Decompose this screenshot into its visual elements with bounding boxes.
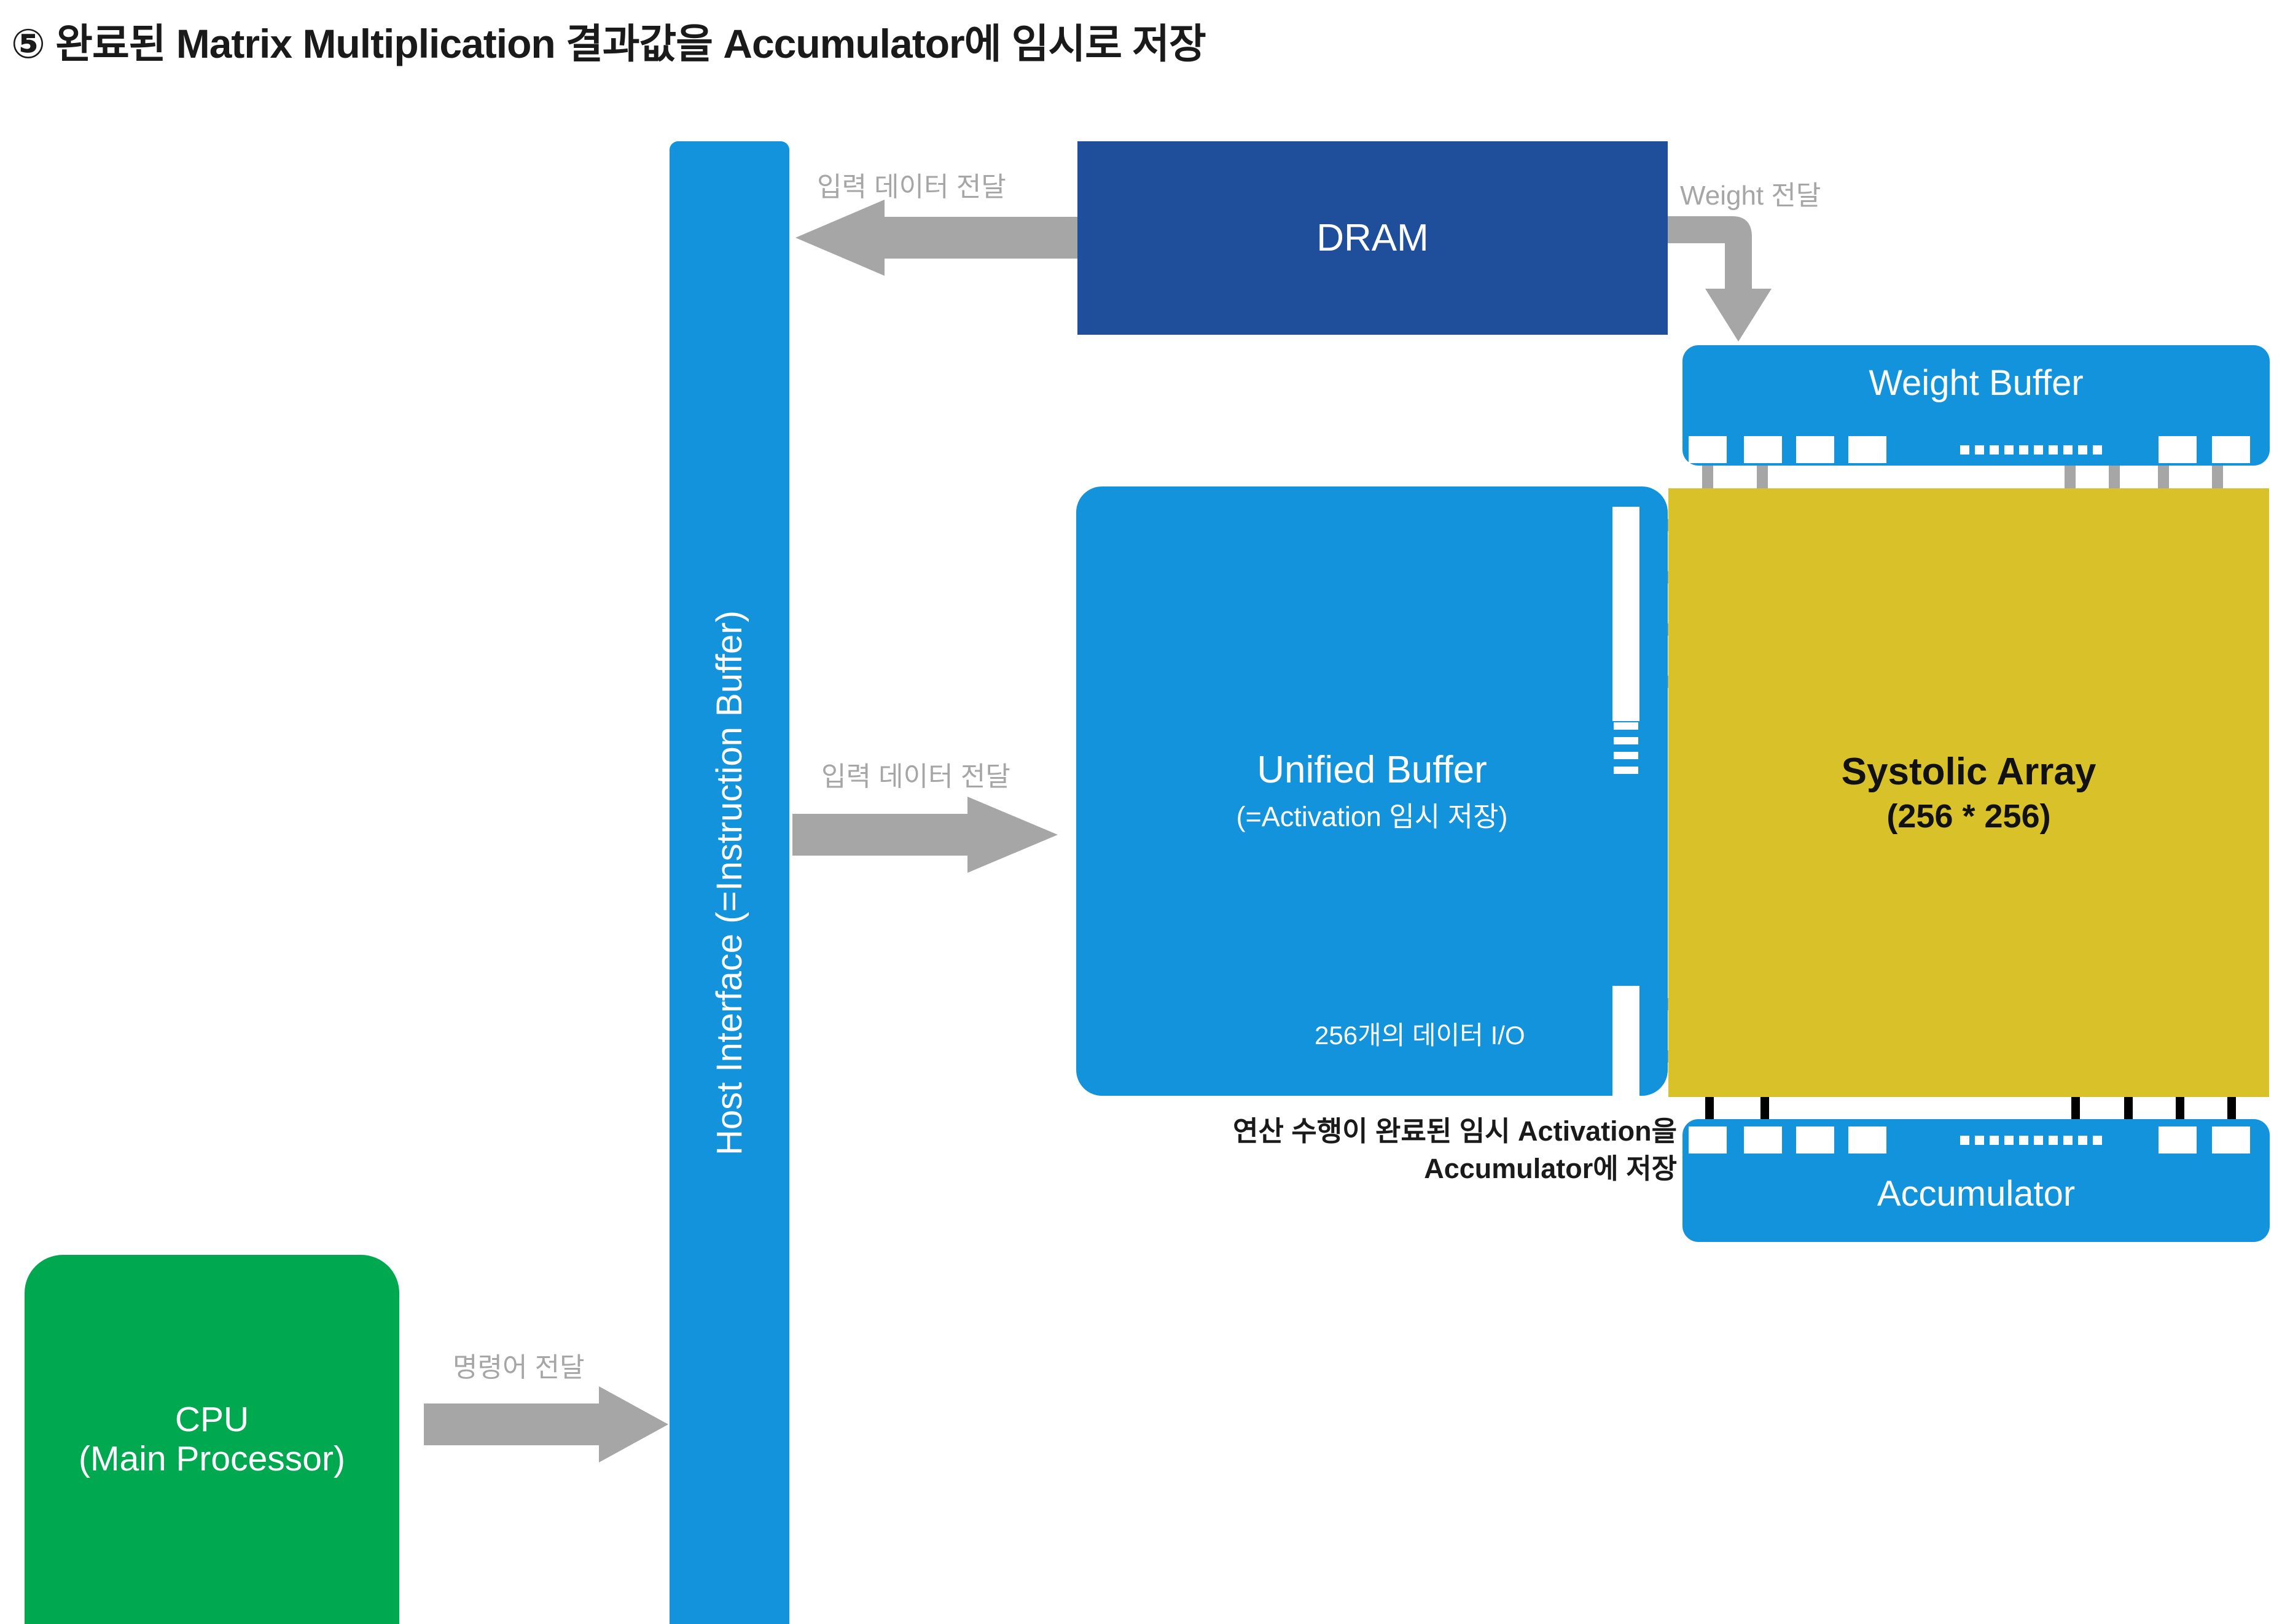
arrow-cpu-to-host — [424, 1386, 668, 1462]
accumulator-label: Accumulator — [1682, 1173, 2270, 1214]
weight-buffer-ellipsis-icon — [1960, 445, 2102, 455]
accumulator-slot — [2212, 1126, 2250, 1154]
accumulator-ellipsis-icon — [1960, 1136, 2102, 1145]
accumulator-block[interactable]: Accumulator — [1682, 1119, 2270, 1242]
io-slot — [1612, 507, 1639, 564]
accumulator-slot — [1796, 1126, 1834, 1154]
weight-slot — [1796, 436, 1834, 463]
host-interface-block[interactable]: Host Interface (=Instruction Buffer) — [670, 141, 789, 1624]
systolic-array-block[interactable]: Systolic Array (256 * 256) — [1668, 488, 2269, 1097]
accumulator-slot — [1744, 1126, 1782, 1154]
io-slot — [1612, 986, 1639, 1044]
weight-slot — [2212, 436, 2250, 463]
weight-slot — [1689, 436, 1727, 463]
cpu-label: CPU — [175, 1400, 249, 1440]
weight-slot — [2159, 436, 2197, 463]
step-note-line1: 연산 수행이 완료된 임시 Activation을 — [848, 1113, 1677, 1150]
cpu-sublabel: (Main Processor) — [79, 1440, 345, 1479]
arrow-host-to-unified-buffer — [792, 797, 1058, 873]
weight-slot — [1744, 436, 1782, 463]
dram-block[interactable]: DRAM — [1077, 141, 1668, 335]
io-slots-ellipsis-icon — [1614, 634, 1638, 774]
data-io-label: 256개의 데이터 I/O — [1315, 1015, 1525, 1052]
arrow-dram-to-host — [792, 200, 1077, 276]
io-slot — [1612, 559, 1639, 617]
dram-label: DRAM — [1316, 216, 1429, 260]
page-title: ⑤ 완료된 Matrix Multiplication 결과값을 Accumul… — [11, 11, 2222, 70]
weight-buffer-block[interactable]: Weight Buffer — [1682, 345, 2270, 466]
accumulator-slot — [1848, 1126, 1886, 1154]
systolic-array-label: Systolic Array — [1842, 750, 2096, 794]
accumulator-slot — [1689, 1126, 1727, 1154]
cpu-block[interactable]: CPU (Main Processor) — [25, 1255, 399, 1624]
flow-label-dram-to-host: 입력 데이터 전달 — [817, 165, 1006, 204]
flow-label-dram-to-weight-buffer: Weight 전달 — [1680, 173, 1821, 213]
unified-buffer-block[interactable]: Unified Buffer (=Activation 임시 저장) — [1076, 486, 1668, 1096]
io-slot — [1612, 1038, 1639, 1096]
step-note: 연산 수행이 완료된 임시 Activation을 Accumulator에 저… — [848, 1113, 1677, 1188]
unified-buffer-label: Unified Buffer — [1257, 748, 1487, 792]
arrow-dram-to-weight-buffer — [1668, 216, 1772, 342]
weight-slot — [1848, 436, 1886, 463]
diagram-canvas: ⑤ 완료된 Matrix Multiplication 결과값을 Accumul… — [0, 0, 2282, 1624]
host-interface-label: Host Interface (=Instruction Buffer) — [709, 610, 750, 1155]
systolic-array-sublabel: (256 * 256) — [1886, 797, 2050, 835]
unified-buffer-sublabel: (=Activation 임시 저장) — [1237, 794, 1508, 834]
flow-label-host-to-unified-buffer: 입력 데이터 전달 — [821, 754, 1010, 794]
accumulator-slot — [2159, 1126, 2197, 1154]
step-note-line2: Accumulator에 저장 — [848, 1150, 1677, 1188]
flow-label-cpu-to-host: 명령어 전달 — [453, 1345, 585, 1384]
weight-buffer-label: Weight Buffer — [1682, 362, 2270, 404]
